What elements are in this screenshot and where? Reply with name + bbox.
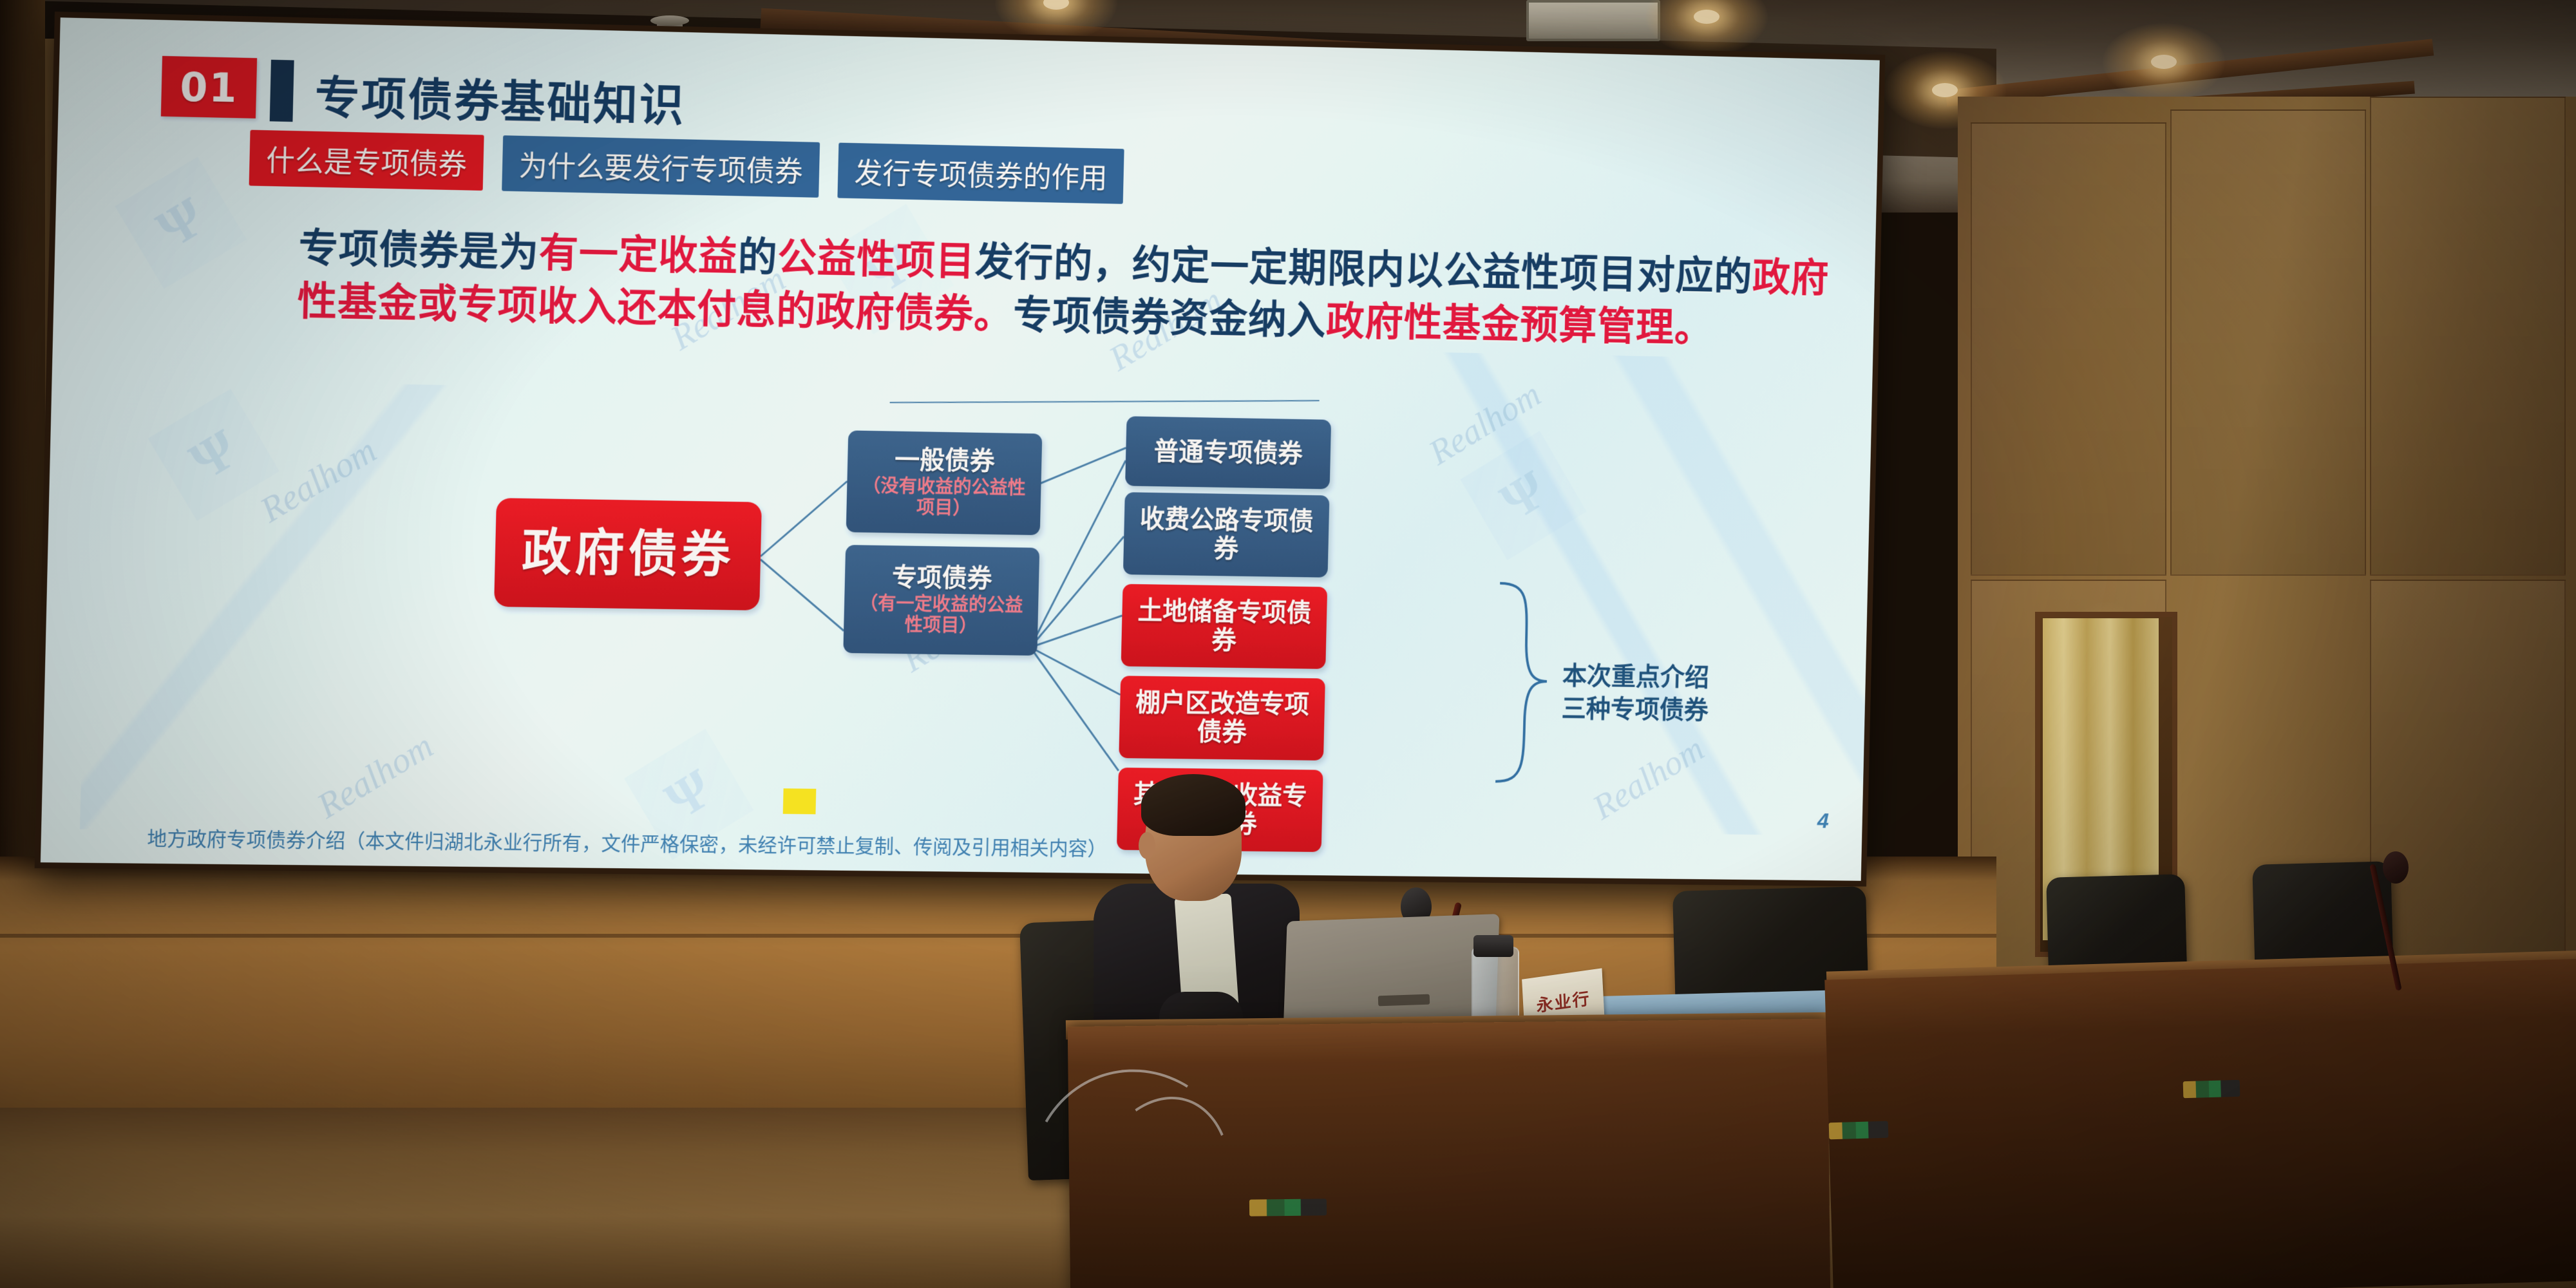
node-label: 棚户区改造专项债券: [1126, 688, 1318, 748]
node-title: 专项债券: [892, 563, 992, 593]
para-highlight-1: 有一定收益: [538, 231, 739, 279]
node-subtitle: （有一定收益的公益性项目）: [851, 593, 1031, 638]
brace-note-line-1: 本次重点介绍: [1562, 659, 1709, 694]
laptop-logo: [1378, 994, 1430, 1007]
wall-panel: [1971, 122, 2166, 576]
presenter-hair: [1141, 774, 1245, 836]
diagram-node-land-reserve-bond: 土地储备专项债券: [1121, 584, 1328, 669]
nameplate-label: 永业行: [1536, 985, 1591, 1017]
microphone-icon: [2383, 851, 2409, 884]
page-title: 专项债券基础知识: [314, 62, 687, 135]
node-label: 收费公路专项债券: [1131, 505, 1322, 565]
presentation-slide: Realhom Realhom Realhom Realhom Realhom …: [41, 17, 1880, 881]
tab-what-is-special-bond[interactable]: 什么是专项债券: [249, 130, 484, 191]
page-number: 4: [1817, 809, 1830, 833]
para-seg-3: 发行的，约定一定期限内以公益性项目对应的: [974, 240, 1753, 299]
desk-control-panel[interactable]: [1249, 1198, 1327, 1216]
node-label: 政府债券: [521, 525, 735, 584]
desk-control-panel[interactable]: [1829, 1121, 1889, 1140]
para-highlight-2: 公益性项目: [777, 236, 976, 284]
node-subtitle: （没有收益的公益性项目）: [854, 475, 1034, 520]
water-bottle-cap: [1473, 935, 1513, 957]
presenter-ear: [1139, 832, 1155, 859]
screenshot-canvas: Realhom Realhom Realhom Realhom Realhom …: [0, 0, 2576, 1288]
desk-control-panel[interactable]: [2183, 1080, 2240, 1098]
para-seg-4: 专项债券资金纳入: [1012, 294, 1327, 343]
node-label: 普通专项债券: [1153, 437, 1303, 468]
brace-note-line-2: 三种专项债券: [1561, 692, 1709, 727]
diagram-node-toll-road-bond: 收费公路专项债券: [1123, 492, 1330, 578]
para-seg-1: 专项债券是为: [298, 227, 540, 276]
wall-panel: [2370, 580, 2566, 994]
wall-panel: [2170, 109, 2366, 576]
para-seg-2: 的: [737, 236, 778, 280]
air-vent: [1526, 0, 1660, 41]
node-title: 一般债券: [895, 446, 995, 476]
diagram-node-general-bond: 一般债券 （没有收益的公益性项目）: [846, 430, 1043, 535]
tab-bar: 什么是专项债券 为什么要发行专项债券 发行专项债券的作用: [249, 130, 1124, 204]
section-number: 01: [180, 63, 238, 111]
section-divider-bar: [270, 60, 294, 122]
slide-paragraph: 专项债券是为有一定收益的公益性项目发行的，约定一定期限内以公益性项目对应的政府性…: [297, 222, 1844, 357]
slide-footer: 地方政府专项债券介绍（本文件归湖北永业行所有，文件严格保密，未经许可禁止复制、传…: [147, 822, 1107, 861]
diagram-node-shantytown-bond: 棚户区改造专项债券: [1119, 676, 1325, 761]
diagram-node-root: 政府债券: [494, 498, 762, 611]
tab-why-issue-special-bond[interactable]: 为什么要发行专项债券: [502, 135, 820, 198]
para-highlight-4: 政府性基金预算管理。: [1325, 300, 1713, 351]
tab-role-of-special-bond[interactable]: 发行专项债券的作用: [837, 143, 1124, 204]
wall-panel: [2370, 97, 2566, 576]
slide-decoration: [80, 379, 537, 834]
projection-screen: Realhom Realhom Realhom Realhom Realhom …: [35, 12, 1886, 887]
watermark-logo: Ψ: [115, 156, 247, 289]
diagram-brace-note: 本次重点介绍 三种专项债券: [1561, 659, 1709, 726]
conference-desk: [1824, 959, 2576, 1288]
section-number-badge: 01: [161, 56, 257, 118]
diagram-node-ordinary-special-bond: 普通专项债券: [1125, 416, 1331, 489]
screen-frame: Realhom Realhom Realhom Realhom Realhom …: [35, 12, 1886, 887]
diagram-node-special-bond: 专项债券 （有一定收益的公益性项目）: [843, 545, 1039, 656]
highlight-marker: [783, 788, 817, 814]
node-label: 土地储备专项债券: [1129, 597, 1320, 656]
